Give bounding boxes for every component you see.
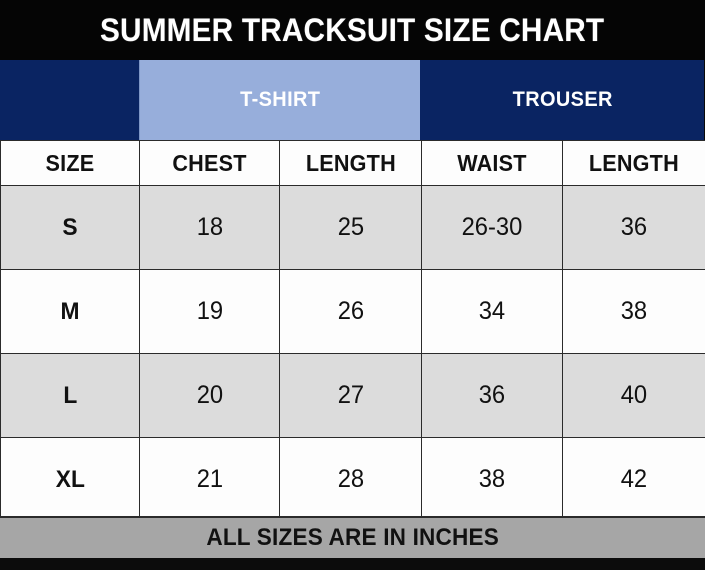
cell-waist: 38 bbox=[422, 438, 563, 522]
bottom-strip bbox=[0, 558, 705, 570]
cell-chest: 20 bbox=[140, 354, 280, 438]
cell-size: M bbox=[1, 270, 140, 354]
footer-note-band: ALL SIZES ARE IN INCHES bbox=[0, 516, 705, 558]
group-header-tshirt: T-SHIRT bbox=[139, 60, 421, 140]
cell-chest: 21 bbox=[140, 438, 280, 522]
cell-tshirt-length: 28 bbox=[280, 438, 422, 522]
cell-waist: 34 bbox=[422, 270, 563, 354]
column-header-waist: WAIST bbox=[422, 141, 563, 186]
footer-note-label: ALL SIZES ARE IN INCHES bbox=[206, 524, 499, 552]
table-row: XL 21 28 38 42 bbox=[1, 438, 705, 522]
size-table: SIZE CHEST LENGTH WAIST LENGTH S 18 25 2… bbox=[0, 140, 705, 522]
size-chart-root: SUMMER TRACKSUIT SIZE CHART T-SHIRT TROU… bbox=[0, 0, 705, 570]
column-header-trouser-length: LENGTH bbox=[563, 141, 705, 186]
group-header-row: T-SHIRT TROUSER bbox=[0, 60, 705, 140]
group-header-tshirt-label: T-SHIRT bbox=[240, 88, 320, 112]
column-header-size: SIZE bbox=[1, 141, 140, 186]
cell-waist: 36 bbox=[422, 354, 563, 438]
table-row: S 18 25 26-30 36 bbox=[1, 186, 705, 270]
column-header-tshirt-length-label: LENGTH bbox=[305, 150, 395, 177]
cell-tshirt-length: 27 bbox=[280, 354, 422, 438]
cell-size: XL bbox=[1, 438, 140, 522]
cell-trouser-length: 36 bbox=[563, 186, 705, 270]
column-header-waist-label: WAIST bbox=[457, 150, 526, 177]
cell-waist: 26-30 bbox=[422, 186, 563, 270]
column-header-chest: CHEST bbox=[140, 141, 280, 186]
table-head: SIZE CHEST LENGTH WAIST LENGTH bbox=[1, 141, 705, 186]
column-header-chest-label: CHEST bbox=[172, 150, 246, 177]
cell-trouser-length: 40 bbox=[563, 354, 705, 438]
group-header-blank bbox=[0, 60, 139, 140]
column-header-row: SIZE CHEST LENGTH WAIST LENGTH bbox=[1, 141, 705, 186]
cell-size: L bbox=[1, 354, 140, 438]
group-header-trouser-label: TROUSER bbox=[512, 88, 612, 112]
footer-note: ALL SIZES ARE IN INCHES bbox=[197, 524, 508, 552]
cell-tshirt-length: 26 bbox=[280, 270, 422, 354]
column-header-trouser-length-label: LENGTH bbox=[589, 150, 679, 177]
group-header-trouser: TROUSER bbox=[421, 60, 704, 140]
column-header-tshirt-length: LENGTH bbox=[280, 141, 422, 186]
cell-chest: 18 bbox=[140, 186, 280, 270]
column-header-size-label: SIZE bbox=[46, 150, 95, 177]
cell-tshirt-length: 25 bbox=[280, 186, 422, 270]
cell-trouser-length: 42 bbox=[563, 438, 705, 522]
table-row: L 20 27 36 40 bbox=[1, 354, 705, 438]
table-body: S 18 25 26-30 36 M 19 26 34 38 L 20 27 3… bbox=[1, 186, 705, 522]
cell-trouser-length: 38 bbox=[563, 270, 705, 354]
table-row: M 19 26 34 38 bbox=[1, 270, 705, 354]
chart-title-band: SUMMER TRACKSUIT SIZE CHART bbox=[0, 0, 705, 60]
page-title: SUMMER TRACKSUIT SIZE CHART bbox=[100, 12, 604, 49]
cell-chest: 19 bbox=[140, 270, 280, 354]
cell-size: S bbox=[1, 186, 140, 270]
